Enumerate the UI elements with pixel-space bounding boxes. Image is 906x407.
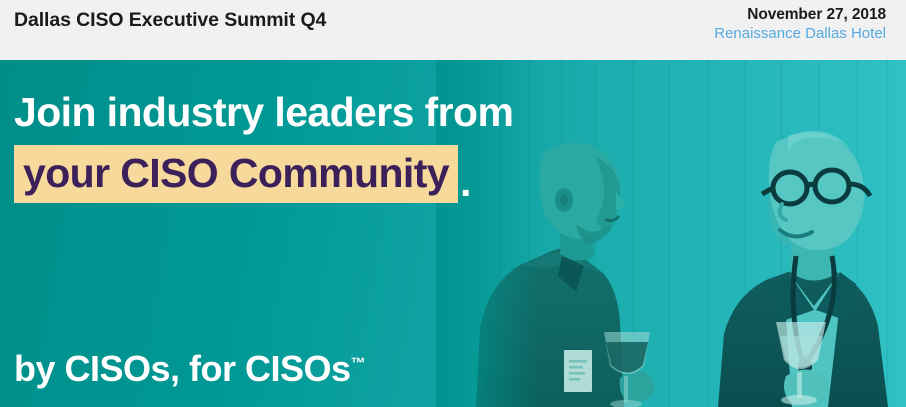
page-header: Dallas CISO Executive Summit Q4 November… <box>0 0 906 60</box>
hero-tagline: by CISOs, for CISOs™ <box>14 351 366 387</box>
event-date: November 27, 2018 <box>714 6 886 23</box>
headline-highlight: your CISO Community <box>14 145 458 203</box>
hero-banner: Join industry leaders from your CISO Com… <box>0 60 906 407</box>
tagline-text: by CISOs, for CISOs <box>14 348 351 389</box>
trademark-symbol: ™ <box>351 355 366 372</box>
headline-period: . <box>458 162 471 203</box>
hero-headline: Join industry leaders from your CISO Com… <box>14 92 513 203</box>
headline-line-2: your CISO Community. <box>14 145 513 203</box>
page-title: Dallas CISO Executive Summit Q4 <box>14 9 326 32</box>
header-event-details: November 27, 2018 Renaissance Dallas Hot… <box>714 6 886 43</box>
headline-line-1: Join industry leaders from <box>14 92 513 133</box>
event-banner-page: Dallas CISO Executive Summit Q4 November… <box>0 0 906 407</box>
event-venue-link[interactable]: Renaissance Dallas Hotel <box>714 26 886 43</box>
